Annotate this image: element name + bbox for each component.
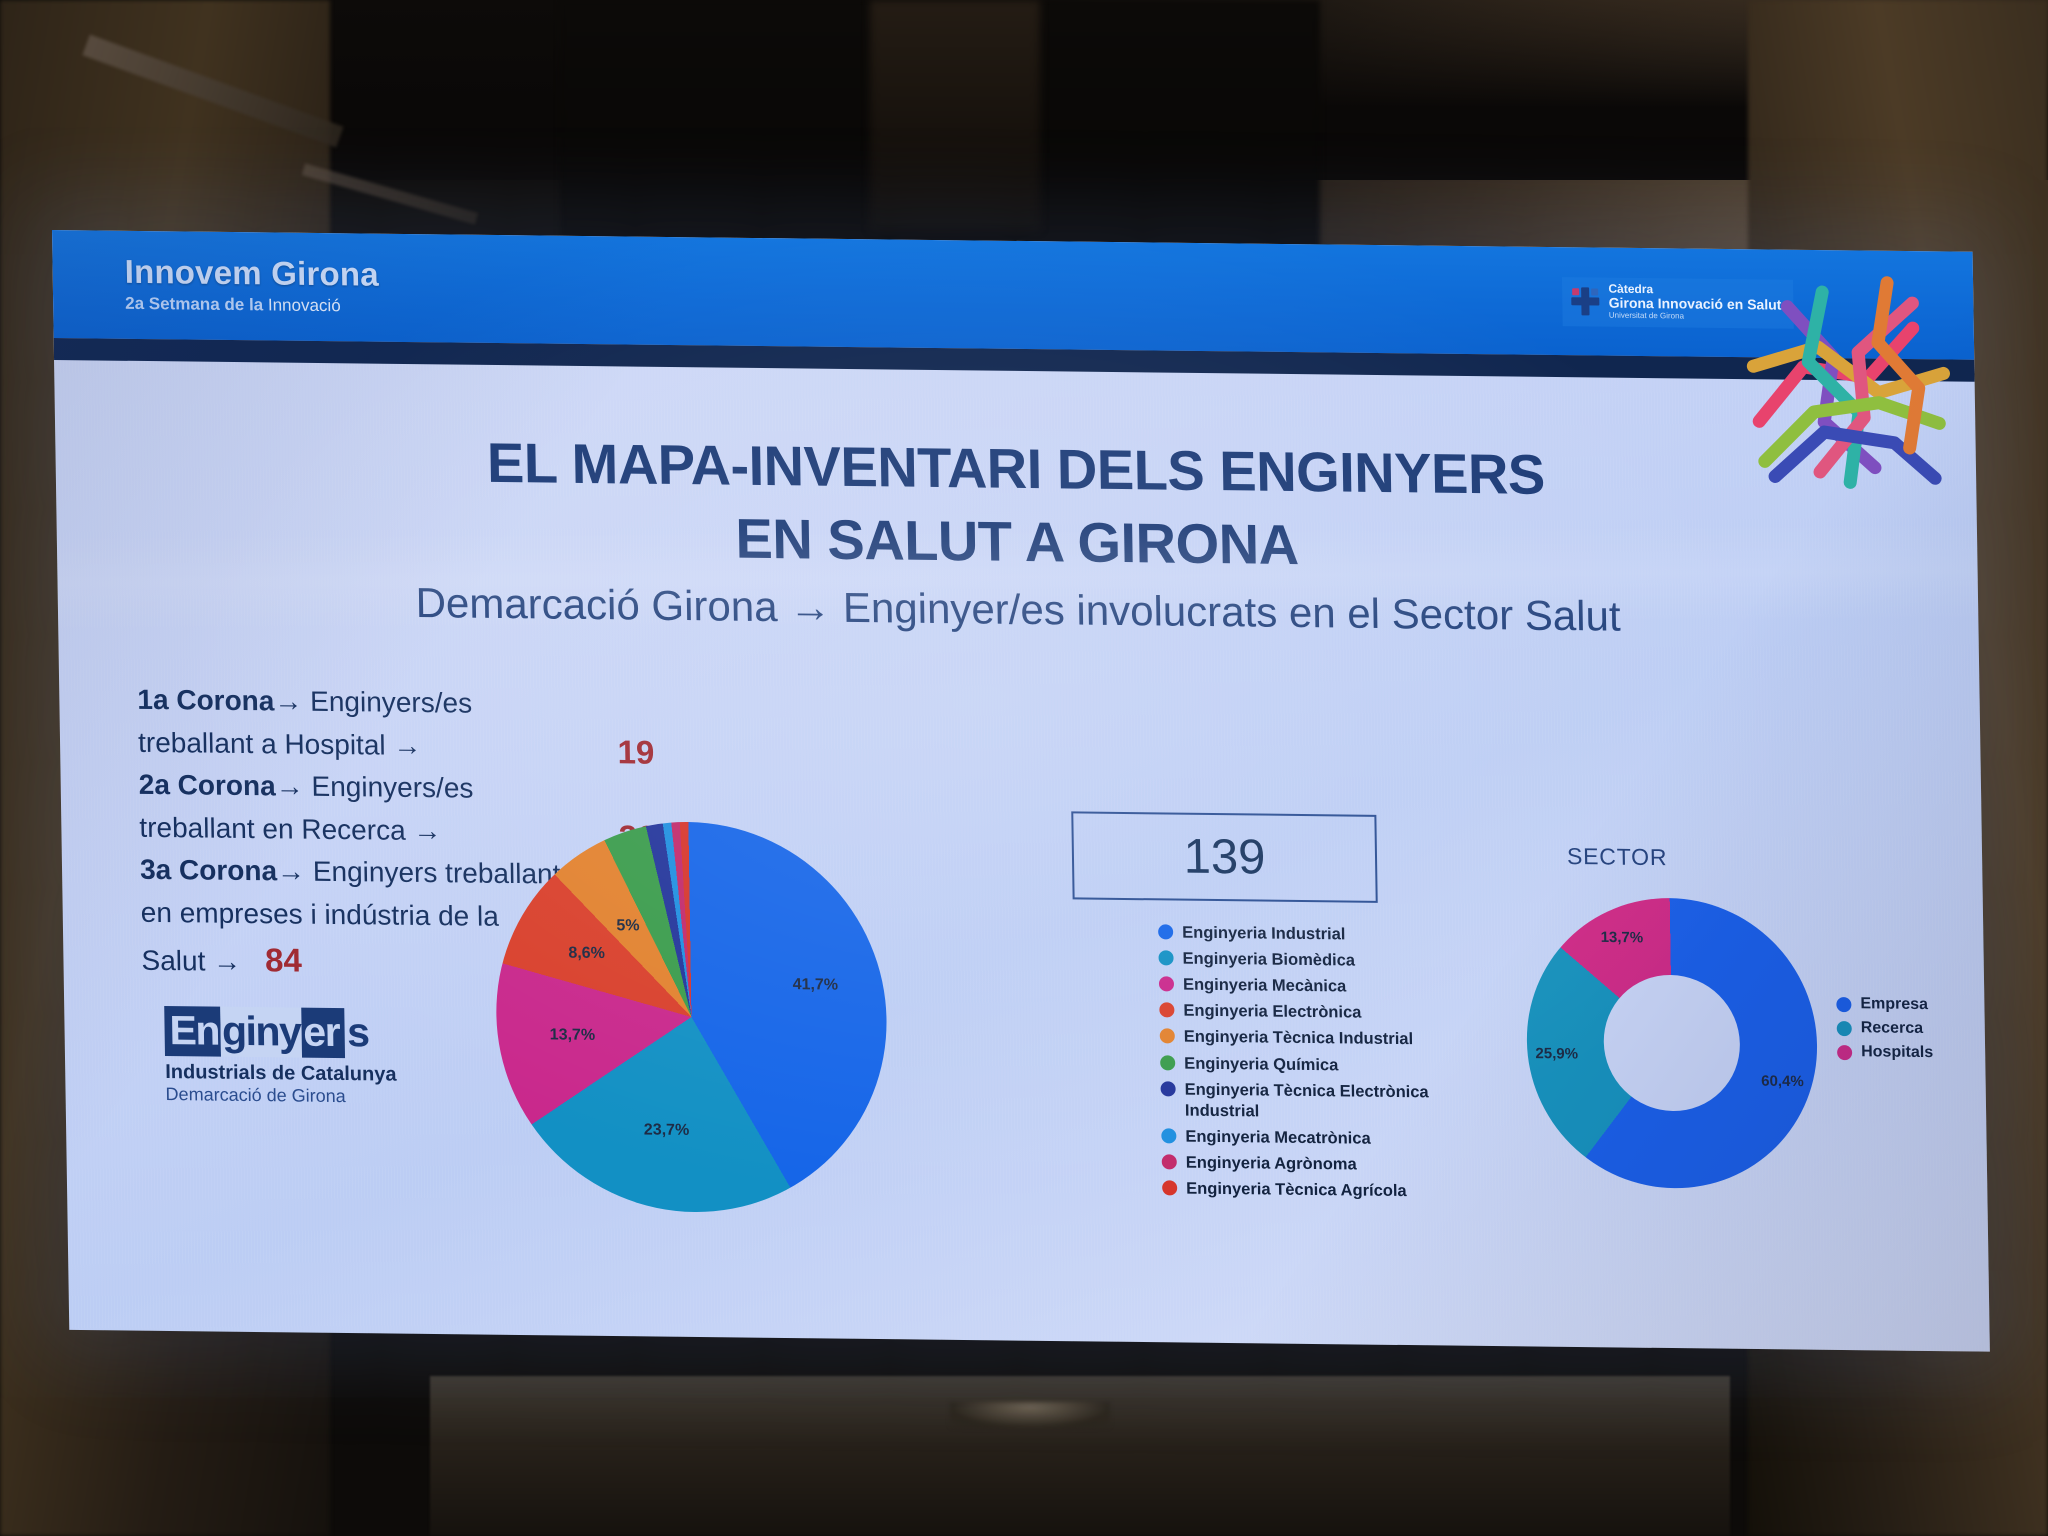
legend-label: Enginyeria Biomèdica <box>1182 949 1355 972</box>
legend-item[interactable]: Enginyeria Mecànica <box>1159 975 1489 1000</box>
legend-dot-icon <box>1837 1021 1852 1036</box>
corona-2-text: Enginyers/es <box>303 771 473 804</box>
pie-slice-label: 8,6% <box>568 945 605 963</box>
corona-3-text2: en empreses i indústria de la <box>140 897 499 932</box>
logo-line3: Demarcació de Girona <box>165 1084 397 1108</box>
enginyers-logo: Enginyers Industrials de Catalunya Demar… <box>164 1006 397 1108</box>
legend-label: Enginyeria Agrònoma <box>1186 1153 1357 1176</box>
pie-chart: 41,7%23,7%13,7%8,6%5% <box>493 820 889 1214</box>
total-count-box: 139 <box>1071 811 1377 902</box>
legend-dot-icon <box>1159 977 1174 992</box>
legend-item[interactable]: Enginyeria Agrònoma <box>1162 1152 1492 1177</box>
donut-chart: 60,4%25,9%13,7% <box>1525 897 1820 1190</box>
corona-3-label: 3a Corona <box>140 854 277 887</box>
pie-slice-label: 13,7% <box>550 1026 596 1045</box>
donut-slice-label: 60,4% <box>1761 1073 1804 1090</box>
legend-dot-icon <box>1161 1128 1176 1143</box>
legend-dot-icon <box>1160 1055 1175 1070</box>
legend-item[interactable]: Enginyeria Industrial <box>1158 922 1488 947</box>
corona-3-arrow: → <box>277 856 305 887</box>
pie-slice-label: 41,7% <box>793 976 839 995</box>
legend-label: Enginyeria Química <box>1184 1053 1338 1076</box>
corona-row-2: 2a Corona→ Enginyers/es <box>138 764 659 812</box>
projection-screen: Innovem Girona 2a Setmana de la Innovaci… <box>52 230 1990 1352</box>
legend-label: Enginyeria Mecatrònica <box>1185 1126 1371 1149</box>
legend-label: Enginyeria Tècnica Industrial <box>1184 1027 1414 1051</box>
donut-slice-label: 13,7% <box>1600 928 1643 945</box>
corona-1-arrow: → <box>274 685 302 716</box>
corona-1-label: 1a Corona <box>137 684 274 717</box>
slide: Innovem Girona 2a Setmana de la Innovaci… <box>52 230 1990 1352</box>
legend-dot-icon <box>1837 1045 1852 1060</box>
legend-label: Empresa <box>1860 995 1928 1014</box>
pie-chart-legend: Enginyeria IndustrialEnginyeria Biomèdic… <box>1158 922 1493 1208</box>
legend-label: Enginyeria Mecànica <box>1183 975 1347 998</box>
slide-title-line2: EN SALUT A GIRONA <box>56 498 1978 585</box>
logo-part-d: s <box>345 1008 369 1058</box>
legend-item[interactable]: Enginyeria Electrònica <box>1159 1001 1489 1026</box>
logo-part-a: En <box>164 1006 221 1057</box>
sector-chart-title: SECTOR <box>1567 843 1668 871</box>
pillar <box>870 0 1040 230</box>
pie-slice-label: 23,7% <box>644 1121 690 1140</box>
legend-dot-icon <box>1158 924 1173 939</box>
pie-slices <box>493 820 889 1214</box>
donut-legend-item[interactable]: Hospitals <box>1837 1043 1933 1062</box>
legend-label: Enginyeria Industrial <box>1182 923 1346 946</box>
legend-item[interactable]: Enginyeria Tècnica Agrícola <box>1162 1178 1492 1203</box>
legend-dot-icon <box>1158 950 1173 965</box>
corona-2-text2: treballant en Recerca → <box>139 811 442 845</box>
brand-subtitle: 2a Setmana de la Innovació <box>125 294 379 317</box>
legend-item[interactable]: Enginyeria Tècnica Electrònica Industria… <box>1160 1079 1491 1125</box>
corona-row-1b: treballant a Hospital → 19 <box>138 721 659 769</box>
legend-item[interactable]: Enginyeria Química <box>1160 1053 1490 1078</box>
brand-block: Innovem Girona 2a Setmana de la Innovaci… <box>124 253 379 317</box>
legend-dot-icon <box>1162 1180 1177 1195</box>
legend-dot-icon <box>1161 1081 1176 1096</box>
legend-label: Recerca <box>1861 1019 1924 1038</box>
cross-icon <box>1571 287 1599 315</box>
corona-1-text: Enginyers/es <box>302 686 472 719</box>
legend-item[interactable]: Enginyeria Biomèdica <box>1158 948 1488 973</box>
donut-legend-item[interactable]: Empresa <box>1836 995 1932 1014</box>
table <box>430 1376 1730 1536</box>
brand-subtitle-bold: 2a Setmana de la <box>125 294 268 315</box>
corona-2-arrow: → <box>275 770 303 801</box>
enginyers-wordmark: Enginyers <box>164 1006 396 1059</box>
legend-label: Enginyeria Tècnica Agrícola <box>1186 1179 1407 1203</box>
legend-item[interactable]: Enginyeria Mecatrònica <box>1161 1126 1491 1151</box>
legend-dot-icon <box>1160 1029 1175 1044</box>
donut-chart-legend: EmpresaRecercaHospitals <box>1836 995 1933 1068</box>
slide-title-line1: EL MAPA-INVENTARI DELS ENGINYERS <box>55 425 1977 512</box>
legend-label: Enginyeria Tècnica Electrònica Industria… <box>1184 1079 1491 1125</box>
logo-line2: Industrials de Catalunya <box>165 1061 397 1087</box>
table-highlight <box>950 1402 1110 1428</box>
legend-dot-icon <box>1836 997 1851 1012</box>
corona-3-value: 84 <box>265 941 302 978</box>
total-count-value: 139 <box>1183 829 1266 886</box>
corona-row-1: 1a Corona→ Enginyers/es <box>137 679 658 727</box>
slide-subtitle: Demarcació Girona → Enginyer/es involucr… <box>57 575 1978 645</box>
brand-title: Innovem Girona <box>124 253 379 294</box>
corona-3-text3: Salut → <box>141 945 241 977</box>
donut-legend-item[interactable]: Recerca <box>1837 1019 1933 1038</box>
legend-label: Hospitals <box>1861 1043 1933 1062</box>
corona-2-label: 2a Corona <box>138 769 275 802</box>
logo-part-b: giny <box>221 1007 302 1058</box>
logo-part-c: er <box>301 1008 346 1058</box>
legend-label: Enginyeria Electrònica <box>1183 1001 1361 1024</box>
brand-subtitle-light: Innovació <box>268 295 341 315</box>
donut-slice-label: 25,9% <box>1535 1045 1578 1062</box>
legend-item[interactable]: Enginyeria Tècnica Industrial <box>1160 1027 1490 1052</box>
pie-slice-label: 5% <box>616 917 639 935</box>
legend-dot-icon <box>1162 1154 1177 1169</box>
legend-dot-icon <box>1159 1003 1174 1018</box>
corona-1-text2: treballant a Hospital → <box>138 726 422 760</box>
